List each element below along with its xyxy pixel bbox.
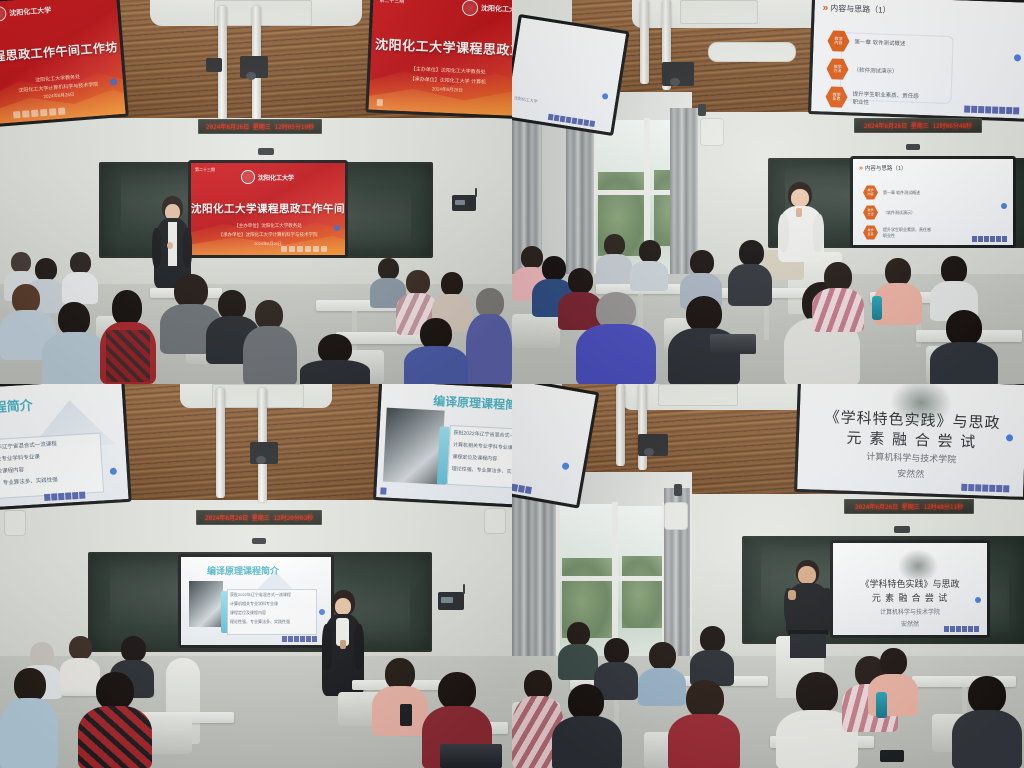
university-seal-icon xyxy=(0,6,7,22)
main-slide-title: 编译原理课程简介 xyxy=(207,564,279,577)
photo-collage: 沈阳化工大学 程思政工作午间工作坊 沈阳化工大学教务处 沈阳化工大学计算机科学与… xyxy=(0,0,1024,768)
wireless-ap-icon xyxy=(438,592,464,610)
projector-lens-icon xyxy=(246,72,256,80)
ceiling-display-right: 《学科特色实践》与思政 元 素 融 合 尝 试 计算机科学与技术学院 安然然 xyxy=(794,384,1024,500)
led-clock-display: 2024年6月26日 星期三 12时05分10秒 xyxy=(198,119,322,134)
assistant-badge-icon xyxy=(1014,54,1021,61)
water-bottle xyxy=(876,692,887,718)
bullet-badge-icon: 教学 内容 xyxy=(827,30,850,53)
bullet-badge-icon: 教学 方法 xyxy=(863,205,878,220)
bullet-text: 提升学生职业素质、责任感 职业性 xyxy=(852,90,919,108)
ceiling-slide-title: 沈阳化工大学课程思政工 xyxy=(371,34,512,60)
assistant-badge-icon xyxy=(334,225,340,231)
course-photo xyxy=(189,581,223,627)
speaker xyxy=(778,182,824,262)
bullet-badge-icon: 教学 反思 xyxy=(863,225,878,240)
led-clock-text: 2024年6月26日 星期三 12时06分48秒 xyxy=(864,121,972,130)
wireless-ap-icon xyxy=(452,195,476,211)
laptop xyxy=(440,744,502,768)
bullet-text: 第一章 软件测试概述 xyxy=(854,38,905,48)
collage-panel-top-left: 沈阳化工大学 程思政工作午间工作坊 沈阳化工大学教务处 沈阳化工大学计算机科学与… xyxy=(0,0,512,384)
bullet-badge-icon: 教学 方法 xyxy=(826,58,849,81)
camera-icon xyxy=(674,484,682,496)
main-slide-title: 内容与思路（1） xyxy=(865,164,907,172)
speaker-icon xyxy=(664,502,688,530)
projector-lens-icon xyxy=(644,448,654,456)
collage-panel-bottom-right: 与思政 尝 试 术学院 xyxy=(512,384,1024,768)
laptop xyxy=(710,334,756,354)
smartphone xyxy=(880,750,904,762)
projector-lens-icon xyxy=(256,456,266,464)
university-seal-icon xyxy=(241,170,255,184)
display-toolbar[interactable] xyxy=(282,636,317,642)
smartphone xyxy=(400,704,412,726)
ceiling-display-left: 沈阳化工大学 程思政工作午间工作坊 沈阳化工大学教务处 沈阳化工大学计算机科学与… xyxy=(0,0,129,127)
display-toolbar[interactable] xyxy=(548,114,595,127)
ink-painting-decoration xyxy=(895,547,941,579)
university-seal-icon xyxy=(462,0,479,16)
main-slide-logo-text: 沈阳化工大学 xyxy=(258,173,294,182)
ceiling-slide-footer: 沈阳化工大学 xyxy=(513,95,538,105)
main-slide-title-line1: 《学科特色实践》与思政 xyxy=(833,577,987,590)
assistant-badge-icon xyxy=(110,468,117,475)
projector-icon xyxy=(206,58,222,72)
ceiling-display-left: 沈阳化工大学 xyxy=(512,14,630,136)
main-slide-title-line2: 元 素 融 合 尝 试 xyxy=(833,591,987,604)
camera-icon xyxy=(906,144,920,150)
bullet-text: 提升学生职业素质、责任感 职业性 xyxy=(883,227,931,239)
assistant-badge-icon xyxy=(1001,203,1007,209)
assistant-badge-icon xyxy=(975,597,981,603)
ceiling-display-right: 沈阳化工大学 第二十三期 沈阳化工大学课程思政工 【主办单位】沈阳化工大学教务处… xyxy=(365,0,512,119)
led-clock-text: 2024年6月26日 星期三 12时05分10秒 xyxy=(206,122,314,131)
course-line-4: 理论性强、专业算法多、实践性强 xyxy=(230,619,290,625)
led-clock-text: 2024年6月26日 星期三 12时48分11秒 xyxy=(855,502,963,511)
ceiling-slide-title: 程思政工作午间工作坊 xyxy=(0,38,121,65)
presenter xyxy=(322,590,364,708)
projector-mount-tube xyxy=(616,384,625,466)
display-toolbar[interactable] xyxy=(512,480,532,494)
ceiling-display-left: 课程简介 获批2022年辽宁省混合式一流课程 计算机相关专业学科专业课 课程定位… xyxy=(0,384,132,510)
front-main-display: 《学科特色实践》与思政 元 素 融 合 尝 试 计算机科学与技术学院 安然然 xyxy=(830,540,990,638)
chevron-right-icon: » xyxy=(822,3,826,14)
speaker-icon xyxy=(700,118,724,146)
led-clock-display: 2024年6月26日 星期三 12时48分11秒 xyxy=(844,499,974,514)
bullet-text: （软件测试演示） xyxy=(883,210,915,216)
display-toolbar[interactable] xyxy=(44,492,85,501)
course-line-3: 课程定位及课程内容 xyxy=(230,610,266,616)
camera-icon xyxy=(252,538,266,544)
display-toolbar[interactable] xyxy=(377,99,383,106)
bullet-badge-icon: 教学 反思 xyxy=(825,86,848,109)
projector-lens-icon xyxy=(670,78,680,86)
ceiling-slide-title: 内容与思路（1） xyxy=(830,3,891,16)
projector-mount-tube xyxy=(216,388,225,498)
speaker-icon xyxy=(4,510,26,536)
projector-mount-tube xyxy=(638,384,647,470)
main-slide-line2: 【承办单位】沈阳化工大学计算机科学与技术学院 xyxy=(191,232,345,238)
display-toolbar[interactable] xyxy=(944,626,979,632)
led-clock-display: 2024年6月26日 星期三 12时20分03秒 xyxy=(196,510,322,525)
led-clock-text: 2024年6月26日 星期三 12时20分03秒 xyxy=(205,513,313,522)
course-line-1: 获批2022年辽宁省混合式一流课程 xyxy=(230,592,291,598)
bullet-badge-icon: 教学 内容 xyxy=(863,185,878,200)
speaker-icon xyxy=(484,508,506,534)
collage-panel-top-right: 沈阳化工大学 xyxy=(512,0,1024,384)
ceiling-display-right: 编译原理课程简介 获批2022年辽宁省混合式一流课程 计算机相关专业学科专业课 … xyxy=(373,384,512,508)
display-toolbar[interactable] xyxy=(972,236,1007,242)
display-toolbar[interactable] xyxy=(964,106,1019,115)
bullet-text: 第一章 软件测试概述 xyxy=(883,190,920,196)
bullet-text: （软件测试演示） xyxy=(853,66,897,76)
water-bottle xyxy=(872,296,882,320)
camera-icon xyxy=(894,526,910,533)
assistant-badge-icon xyxy=(562,462,570,470)
display-toolbar[interactable] xyxy=(281,246,327,252)
ceiling-slide-title: 课程简介 xyxy=(0,395,33,417)
ceiling-display-right: » 内容与思路（1） 教学 内容 第一章 软件测试概述 教学 方法 （软件测试演… xyxy=(808,0,1024,122)
course-line-2: 计算机相关专业学科专业课 xyxy=(230,601,278,607)
assistant-badge-icon xyxy=(602,93,609,100)
camera-icon xyxy=(258,148,274,155)
display-toolbar[interactable] xyxy=(961,484,1009,493)
course-photo xyxy=(383,408,445,485)
front-main-display: » 内容与思路（1） 教学 内容 第一章 软件测试概述 教学 方法 （软件测试演… xyxy=(850,156,1016,248)
speaker xyxy=(784,560,832,656)
projector-mount-tube xyxy=(640,0,649,84)
main-slide-title: 沈阳化工大学课程思政工作午间工作坊 xyxy=(191,201,345,216)
front-main-display: 第二十三期 沈阳化工大学 沈阳化工大学课程思政工作午间工作坊 【主办单位】沈阳化… xyxy=(188,160,348,258)
collage-panel-bottom-left: 课程简介 获批2022年辽宁省混合式一流课程 计算机相关专业学科专业课 课程定位… xyxy=(0,384,512,768)
camera-icon xyxy=(698,104,706,116)
led-clock-display: 2024年6月26日 星期三 12时06分48秒 xyxy=(854,118,982,133)
display-toolbar[interactable] xyxy=(380,487,386,494)
front-main-display: 编译原理课程简介 获批2022年辽宁省混合式一流课程 计算机相关专业学科专业课 … xyxy=(178,554,334,648)
chevron-right-icon: » xyxy=(859,165,861,172)
main-slide-line1: 【主办单位】沈阳化工大学教务处 xyxy=(191,223,345,229)
main-slide-org: 计算机科学与技术学院 xyxy=(833,607,987,616)
